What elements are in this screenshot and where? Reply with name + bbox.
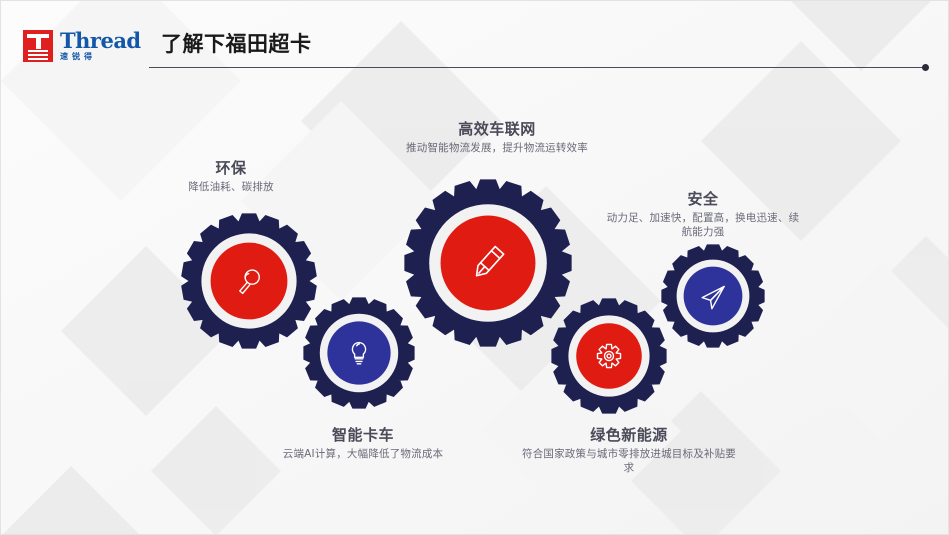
gear-disc-gaoxiao-chelianwang: [441, 216, 536, 311]
caption-zhineng-kache-title: 智能卡车: [253, 425, 473, 445]
gear-disc-huanbao: [211, 243, 288, 320]
caption-anquan: 安全 动力足、加速快，配置高，换电迅速、续航能力强: [605, 189, 801, 239]
caption-gaoxiao-chelianwang: 高效车联网 推动智能物流发展，提升物流运转效率: [399, 119, 595, 155]
caption-gaoxiao-chelianwang-desc: 推动智能物流发展，提升物流运转效率: [399, 141, 595, 155]
gear-disc-zhineng-kache: [327, 321, 390, 384]
caption-huanbao-title: 环保: [151, 158, 311, 178]
caption-zhineng-kache: 智能卡车 云端AI计算，大幅降低了物流成本: [253, 425, 473, 461]
gear-anquan: [661, 244, 764, 347]
caption-anquan-title: 安全: [605, 189, 801, 209]
gear-diagram: [1, 1, 948, 534]
caption-lvse-xinnengyuan: 绿色新能源 符合国家政策与城市零排放进城目标及补贴要求: [517, 425, 741, 475]
caption-anquan-desc: 动力足、加速快，配置高，换电迅速、续航能力强: [605, 211, 801, 239]
caption-zhineng-kache-desc: 云端AI计算，大幅降低了物流成本: [253, 447, 473, 461]
caption-lvse-xinnengyuan-desc: 符合国家政策与城市零排放进城目标及补贴要求: [517, 447, 741, 475]
caption-gaoxiao-chelianwang-title: 高效车联网: [399, 119, 595, 139]
caption-huanbao-desc: 降低油耗、碳排放: [151, 180, 311, 194]
caption-lvse-xinnengyuan-title: 绿色新能源: [517, 425, 741, 445]
gear-zhineng-kache: [303, 297, 414, 408]
caption-huanbao: 环保 降低油耗、碳排放: [151, 158, 311, 194]
gear-huanbao: [181, 213, 317, 348]
gear-gaoxiao-chelianwang: [404, 179, 571, 346]
slide-canvas: Thread 速锐得 了解下福田超卡 环保 降低油耗、碳排放 智能卡车 云端AI…: [0, 0, 949, 535]
gear-disc-lvse-xinnengyuan: [576, 323, 642, 389]
gear-disc-anquan: [684, 267, 743, 326]
gear-lvse-xinnengyuan: [551, 298, 666, 413]
